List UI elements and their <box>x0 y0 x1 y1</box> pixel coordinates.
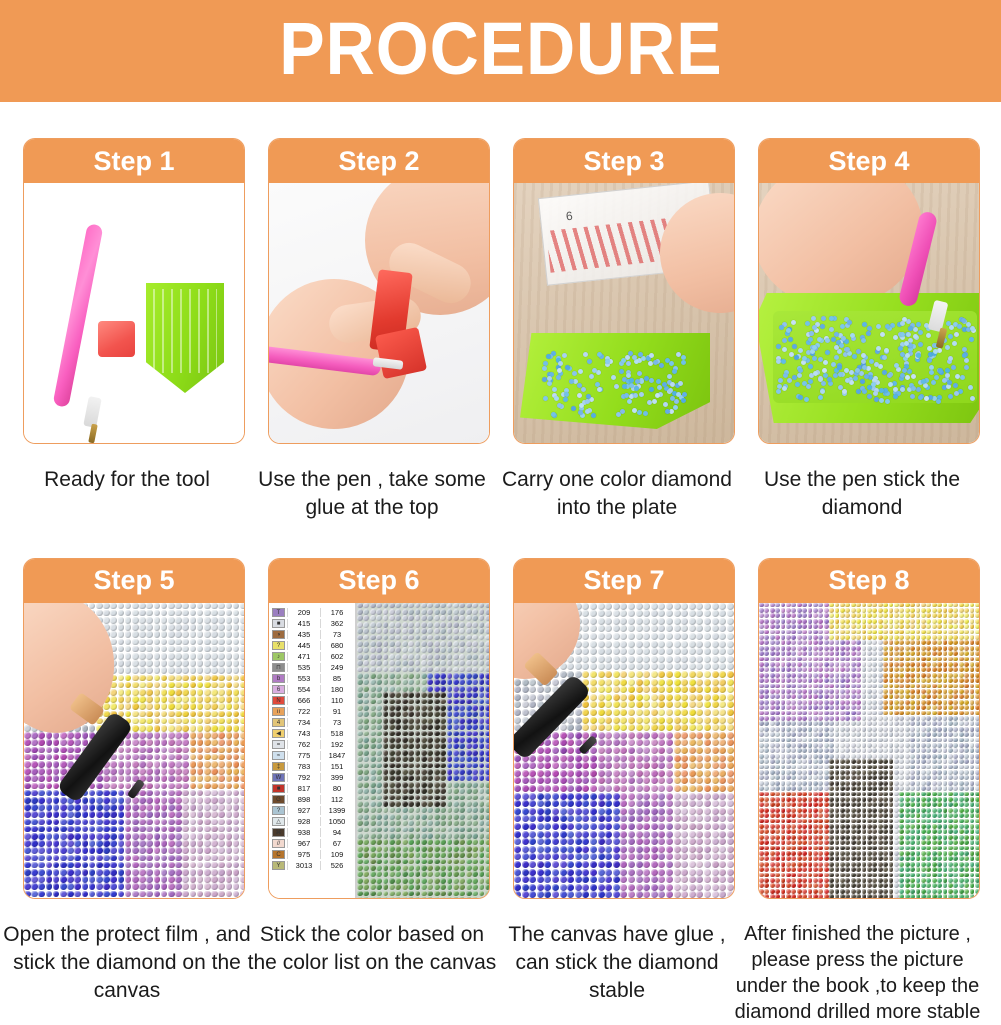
color-count: 67 <box>320 839 353 848</box>
color-count: 180 <box>320 685 353 694</box>
color-list-table: T209176■415362◑43573?445680♪471602⊓53524… <box>269 603 357 898</box>
color-count: 176 <box>320 608 353 617</box>
color-list-row: T209176 <box>272 607 354 618</box>
color-code: 898 <box>287 795 320 804</box>
color-count: 151 <box>320 762 353 771</box>
step-card-3: Step 3 6 Carry one color diamond into th… <box>513 138 735 523</box>
color-symbol-swatch: ≈ <box>272 751 285 760</box>
step-8-image <box>759 603 979 898</box>
page-banner: PROCEDURE <box>0 0 1001 102</box>
step-2-card: Step 2 <box>268 138 490 444</box>
color-code: 792 <box>287 773 320 782</box>
pink-pen-icon <box>52 223 103 408</box>
color-list-row: ≈7751847 <box>272 750 354 761</box>
step-2-image <box>269 183 489 443</box>
color-code: 3013 <box>287 861 320 870</box>
step-7-card: Step 7 <box>513 558 735 899</box>
step-7-header-label: Step 7 <box>583 567 664 594</box>
color-code: 666 <box>287 696 320 705</box>
diamond-canvas <box>357 603 489 898</box>
color-list-row: =762192 <box>272 739 354 750</box>
step-7-image <box>514 603 734 898</box>
color-count: 602 <box>320 652 353 661</box>
color-count: 85 <box>320 674 353 683</box>
color-list-row: b55385 <box>272 673 354 684</box>
color-code: 445 <box>287 641 320 650</box>
step-3-image: 6 <box>514 183 734 443</box>
color-list-row: Y3013526 <box>272 860 354 871</box>
color-symbol-swatch: Y <box>272 861 285 870</box>
color-list-row: G898112 <box>272 794 354 805</box>
color-count: 192 <box>320 740 353 749</box>
color-symbol-swatch: △ <box>272 817 285 826</box>
step-card-8: Step 8 After finished the picture , plea… <box>758 558 980 1025</box>
color-count: 249 <box>320 663 353 672</box>
step-6-caption: Stick the color based on the color list … <box>247 921 497 978</box>
color-count: 110 <box>320 696 353 705</box>
glue-block-icon <box>375 327 427 379</box>
color-symbol-swatch: ◑ <box>272 630 285 639</box>
color-symbol-swatch: = <box>272 740 285 749</box>
step-6-image: T209176■415362◑43573?445680♪471602⊓53524… <box>269 603 489 898</box>
color-code: 927 <box>287 806 320 815</box>
step-7-header: Step 7 <box>514 559 734 603</box>
color-count: 94 <box>320 828 353 837</box>
step-6-header: Step 6 <box>269 559 489 603</box>
step-5-header-label: Step 5 <box>93 567 174 594</box>
step-3-header: Step 3 <box>514 139 734 183</box>
step-card-7: Step 7 The canvas have glue , can stick … <box>513 558 735 1025</box>
color-symbol-swatch: ıı <box>272 707 285 716</box>
color-code: 938 <box>287 828 320 837</box>
color-count: 1050 <box>320 817 353 826</box>
color-list-row: ‡783151 <box>272 761 354 772</box>
step-5-card: Step 5 <box>23 558 245 899</box>
step-2-header: Step 2 <box>269 139 489 183</box>
step-4-card: Step 4 <box>758 138 980 444</box>
color-symbol-swatch: ■ <box>272 619 285 628</box>
step-7-caption: The canvas have glue , can stick the dia… <box>492 921 742 1006</box>
color-count: 399 <box>320 773 353 782</box>
color-list-row: ♪471602 <box>272 651 354 662</box>
color-list-row: △9281050 <box>272 816 354 827</box>
color-code: 535 <box>287 663 320 672</box>
bag-label: 6 <box>565 209 573 224</box>
green-tray-icon <box>146 283 224 393</box>
step-1-image <box>24 183 244 443</box>
glue-square-icon <box>98 321 135 357</box>
step-8-card: Step 8 <box>758 558 980 899</box>
color-list-row: ?445680 <box>272 640 354 651</box>
step-5-caption: Open the protect film , and stick the di… <box>2 921 252 1006</box>
step-2-header-label: Step 2 <box>338 148 419 175</box>
color-list-row: 473473 <box>272 717 354 728</box>
color-code: 209 <box>287 608 320 617</box>
color-code: 722 <box>287 707 320 716</box>
color-count: 112 <box>320 795 353 804</box>
color-symbol-swatch: ? <box>272 641 285 650</box>
color-code: 471 <box>287 652 320 661</box>
color-list-row: C975109 <box>272 849 354 860</box>
step-card-5: Step 5 Open the protect film , and stick… <box>23 558 245 1025</box>
color-count: 73 <box>320 718 353 727</box>
color-symbol-swatch: N <box>272 696 285 705</box>
color-count: 80 <box>320 784 353 793</box>
color-symbol-swatch: ‡ <box>272 762 285 771</box>
color-symbol-swatch: ⊓ <box>272 663 285 672</box>
color-symbol-swatch: T <box>272 608 285 617</box>
step-card-1: Step 1 Ready for the tool <box>23 138 245 523</box>
color-code: 817 <box>287 784 320 793</box>
color-code: 743 <box>287 729 320 738</box>
color-count: 362 <box>320 619 353 628</box>
step-2-caption: Use the pen , take some glue at the top <box>247 466 497 523</box>
color-code: 762 <box>287 740 320 749</box>
finished-diamond-painting <box>759 603 979 898</box>
step-3-header-label: Step 3 <box>583 148 664 175</box>
color-symbol-swatch: W <box>272 773 285 782</box>
color-list-row: ◀743518 <box>272 728 354 739</box>
step-8-caption: After finished the picture , please pres… <box>724 921 992 1025</box>
color-count: 680 <box>320 641 353 650</box>
color-code: 783 <box>287 762 320 771</box>
color-list-row: W792399 <box>272 772 354 783</box>
step-card-4: Step 4 Use the pen stick the diamond <box>758 138 980 523</box>
color-code: 553 <box>287 674 320 683</box>
color-count: 518 <box>320 729 353 738</box>
color-symbol-swatch: ⌘ <box>272 828 285 837</box>
color-code: 975 <box>287 850 320 859</box>
color-symbol-swatch: // <box>272 839 285 848</box>
color-code: 967 <box>287 839 320 848</box>
color-symbol-swatch: ◀ <box>272 729 285 738</box>
step-6-header-label: Step 6 <box>338 567 419 594</box>
step-4-caption: Use the pen stick the diamond <box>737 466 987 523</box>
color-count: 109 <box>320 850 353 859</box>
color-list-row: ■415362 <box>272 618 354 629</box>
color-symbol-swatch: 6 <box>272 685 285 694</box>
step-1-caption: Ready for the tool <box>2 466 252 494</box>
step-5-image <box>24 603 244 898</box>
step-card-2: Step 2 Use the pen , take some glue at t… <box>268 138 490 523</box>
color-count: 73 <box>320 630 353 639</box>
step-6-card: Step 6 T209176■415362◑43573?445680♪47160… <box>268 558 490 899</box>
step-8-header: Step 8 <box>759 559 979 603</box>
color-count: 1847 <box>320 751 353 760</box>
color-list-row: ⌘93894 <box>272 827 354 838</box>
color-code: 435 <box>287 630 320 639</box>
step-3-caption: Carry one color diamond into the plate <box>492 466 742 523</box>
color-count: 91 <box>320 707 353 716</box>
page-title: PROCEDURE <box>279 12 722 90</box>
color-list-row: ⊓535249 <box>272 662 354 673</box>
step-4-header-label: Step 4 <box>828 148 909 175</box>
color-list-row: 6554180 <box>272 684 354 695</box>
color-list-row: N666110 <box>272 695 354 706</box>
color-code: 734 <box>287 718 320 727</box>
color-list-row: //96767 <box>272 838 354 849</box>
color-list-row: ıı72291 <box>272 706 354 717</box>
color-code: 775 <box>287 751 320 760</box>
color-symbol-swatch: C <box>272 850 285 859</box>
color-count: 1399 <box>320 806 353 815</box>
color-list-row: ?9271399 <box>272 805 354 816</box>
color-count: 526 <box>320 861 353 870</box>
color-list-row: ◑43573 <box>272 629 354 640</box>
step-8-header-label: Step 8 <box>828 567 909 594</box>
step-4-header: Step 4 <box>759 139 979 183</box>
color-symbol-swatch: G <box>272 795 285 804</box>
color-code: 415 <box>287 619 320 628</box>
color-code: 554 <box>287 685 320 694</box>
step-3-card: Step 3 6 <box>513 138 735 444</box>
steps-row-2: Step 5 Open the protect film , and stick… <box>0 523 1001 1025</box>
step-1-header-label: Step 1 <box>93 148 174 175</box>
step-card-6: Step 6 T209176■415362◑43573?445680♪47160… <box>268 558 490 1025</box>
color-symbol-swatch: ♪ <box>272 652 285 661</box>
steps-row-1: Step 1 Ready for the tool Step 2 <box>0 102 1001 523</box>
step-4-image <box>759 183 979 443</box>
color-symbol-swatch: ? <box>272 806 285 815</box>
step-1-card: Step 1 <box>23 138 245 444</box>
color-symbol-swatch: b <box>272 674 285 683</box>
step-1-header: Step 1 <box>24 139 244 183</box>
color-symbol-swatch: ■ <box>272 784 285 793</box>
color-list-row: ■81780 <box>272 783 354 794</box>
color-code: 928 <box>287 817 320 826</box>
step-5-header: Step 5 <box>24 559 244 603</box>
color-symbol-swatch: 4 <box>272 718 285 727</box>
